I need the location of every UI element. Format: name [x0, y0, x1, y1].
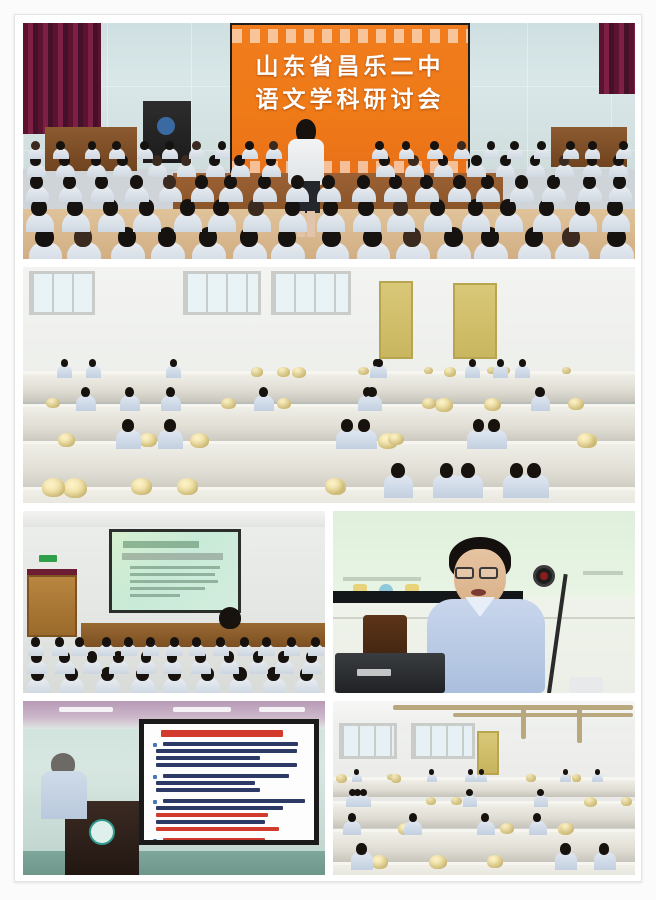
lab-trainee-torso	[343, 821, 361, 835]
lab-trainee-torso	[534, 795, 548, 807]
audience-head	[258, 175, 271, 189]
eyeglass-right-lens-icon	[479, 567, 498, 579]
lab-trainee-head	[341, 419, 353, 432]
lab2-window-2	[411, 723, 475, 759]
phantom-head-manikin	[63, 478, 87, 497]
audience-head	[102, 637, 111, 647]
speaker-closeup-scene	[333, 511, 635, 693]
ceiling-pipe-1	[393, 705, 633, 710]
lab-trainee-torso	[372, 365, 387, 377]
ceiling-pipe-drop-2	[577, 709, 582, 743]
lab-trainee-torso	[433, 475, 462, 498]
lab-trainee-head	[391, 463, 405, 478]
lab-trainee-torso	[531, 395, 551, 411]
lab-trainee-head	[429, 769, 434, 775]
lab-trainee-head	[356, 843, 367, 855]
photo-collage: 山东省昌乐二中 语文学科研讨会	[23, 23, 635, 875]
photo-speaker-at-microphone	[333, 511, 635, 693]
projected-text-line-1	[343, 577, 421, 581]
ceiling-lamp-2	[173, 707, 231, 712]
phantom-head-manikin	[568, 398, 584, 411]
photo-collage-card: 山东省昌乐二中 语文学科研讨会	[14, 14, 642, 882]
lab-window-1	[29, 271, 95, 315]
presentation-slide	[139, 719, 319, 845]
lab-trainee-head	[519, 359, 526, 367]
lab-trainee-head	[122, 419, 134, 432]
lab-trainee-torso	[555, 852, 577, 870]
phantom-head-manikin	[58, 433, 76, 447]
phantom-head-manikin	[484, 398, 501, 412]
slide-text-line-4	[130, 587, 206, 590]
audience-head	[311, 637, 320, 647]
slide-text-line	[156, 781, 255, 785]
phantom-head-manikin	[572, 774, 581, 781]
banner-text: 山东省昌乐二中 语文学科研讨会	[232, 51, 468, 117]
lab-trainee-head	[358, 419, 370, 432]
stage-curtain-left	[23, 23, 101, 134]
photo-podium-speaker-slide	[23, 701, 325, 875]
lab-trainee-torso	[404, 821, 422, 835]
school-emblem-icon	[89, 819, 115, 845]
lab-trainee-head	[61, 359, 68, 367]
photo-lab-classroom-second-view	[333, 701, 635, 875]
phantom-head-manikin	[190, 433, 209, 448]
lab-trainee-torso	[352, 774, 363, 783]
lab-trainee-torso	[594, 852, 616, 870]
lab-trainee-head	[560, 843, 571, 855]
audience-head	[195, 175, 208, 189]
lab-trainee-head	[535, 387, 544, 397]
phantom-head-manikin	[562, 367, 571, 374]
lecture-hall-scene	[23, 511, 325, 693]
lab-trainee-torso	[351, 795, 365, 807]
lab-trainee-torso	[352, 430, 377, 450]
audience-head	[322, 175, 335, 189]
banner-line-2: 语文学科研讨会	[232, 84, 468, 117]
phantom-head-manikin	[487, 855, 502, 867]
audience-head	[55, 637, 64, 647]
lab-trainee-torso	[351, 852, 373, 870]
phantom-head-manikin	[435, 398, 453, 412]
audience-head	[357, 175, 370, 189]
lab-trainee-torso	[254, 395, 274, 411]
lab-trainee-torso	[463, 795, 477, 807]
lab-door-yellow	[453, 283, 497, 359]
lab-trainee-head	[469, 359, 476, 367]
lab-trainee-torso	[467, 430, 492, 450]
lab-door-glass	[379, 281, 413, 359]
slide-text-line	[156, 813, 268, 817]
lab-trainee-torso	[476, 774, 487, 783]
phantom-head-manikin	[424, 367, 433, 374]
seated-presenter	[219, 607, 241, 629]
audience-head	[375, 141, 384, 150]
lab-trainee-torso	[592, 774, 603, 783]
slide-text-line	[156, 827, 279, 831]
lab-trainee-torso	[161, 395, 181, 411]
lab-trainee-torso	[86, 365, 101, 377]
lab-trainee-head	[259, 387, 268, 397]
ceiling-lamp-1	[59, 707, 113, 712]
lab-trainee-torso	[158, 430, 183, 450]
page-background: 山东省昌乐二中 语文学科研讨会	[0, 0, 656, 900]
phantom-head-manikin	[388, 433, 404, 445]
audience-head	[30, 175, 43, 189]
slide-text-line-2	[130, 573, 216, 576]
phantom-head-manikin	[422, 398, 436, 410]
audience-head	[31, 637, 40, 647]
audience-head	[588, 141, 597, 150]
slide-heading	[161, 730, 283, 737]
lab-trainee-head	[89, 359, 96, 367]
lab-trainee-torso	[465, 774, 476, 783]
audience-head	[481, 175, 494, 189]
microphone-icon	[533, 565, 555, 587]
slide-bullet-icon	[153, 800, 157, 804]
audience-head	[547, 175, 560, 189]
audience-head	[566, 141, 575, 150]
senior-speaker-shirt	[41, 771, 87, 819]
lab-classroom-second-scene	[333, 701, 635, 875]
lab-trainee-head	[527, 463, 541, 478]
audience-head	[510, 141, 519, 150]
slide-bullet-icon	[153, 775, 157, 779]
phantom-head-manikin	[277, 398, 291, 409]
slide-text-line	[163, 838, 265, 842]
desk-monitor	[335, 653, 445, 693]
photo-lecture-hall-green-screen	[23, 511, 325, 693]
audience-head	[619, 141, 628, 150]
lab-trainee-torso	[166, 365, 181, 377]
ceiling-pipe-drop-1	[521, 709, 526, 739]
lab-trainee-head	[166, 387, 175, 397]
phantom-head-manikin	[577, 433, 596, 448]
phantom-head-manikin	[325, 478, 345, 494]
slide-text-line-3	[130, 580, 218, 583]
lab-trainee-torso	[493, 365, 508, 377]
audience-head	[613, 175, 626, 189]
lab-trainee-head	[595, 769, 600, 775]
phantom-head-manikin	[358, 367, 368, 375]
audience-head	[63, 175, 76, 189]
audience-head	[291, 175, 304, 189]
exit-sign	[39, 555, 57, 562]
phantom-head-manikin	[371, 855, 388, 869]
lecture-hall-door	[27, 575, 77, 637]
lab-trainee-head	[348, 813, 357, 822]
audience-head	[216, 637, 225, 647]
audience-head	[75, 637, 84, 647]
auditorium-audience	[23, 141, 635, 259]
audience-head	[240, 637, 249, 647]
projection-screen	[109, 529, 241, 613]
audience-head	[515, 175, 528, 189]
lecture-hall-ceiling	[23, 511, 325, 527]
phantom-head-manikin	[429, 855, 447, 869]
lab-trainee-torso	[560, 774, 571, 783]
phantom-head-manikin	[42, 478, 65, 496]
projected-text-line-2	[583, 571, 623, 575]
audience-head	[471, 155, 482, 166]
lab-trainee-torso	[427, 774, 438, 783]
lab-trainee-torso	[529, 821, 547, 835]
audience-head	[269, 141, 278, 150]
slide-bullet-icon	[153, 839, 157, 843]
lab-trainee-head	[367, 387, 376, 397]
slide-text-line	[156, 756, 260, 760]
audience-head	[192, 141, 201, 150]
ceiling-pipe-2	[453, 713, 633, 717]
audience-head	[192, 637, 201, 647]
phantom-head-manikin	[526, 774, 536, 782]
lab-trainee-head	[473, 419, 485, 432]
photo-lab-classroom-wide	[23, 267, 635, 503]
slide-bullet-icon	[153, 743, 157, 747]
phantom-head-manikin	[336, 774, 347, 783]
lecture-hall-audience	[23, 637, 325, 693]
phantom-head-manikin	[584, 797, 597, 807]
audience-head	[170, 637, 179, 647]
phantom-head-manikin	[500, 823, 514, 834]
audience-head	[146, 637, 155, 647]
audience-head	[224, 175, 237, 189]
photo-auditorium-opening: 山东省昌乐二中 语文学科研讨会	[23, 23, 635, 259]
banner-top-decoration	[232, 29, 468, 43]
phantom-head-manikin	[621, 797, 632, 806]
lab-window-3	[271, 271, 351, 315]
audience-head	[262, 637, 271, 647]
audience-head	[130, 175, 143, 189]
audience-head	[287, 637, 296, 647]
eyeglass-left-lens-icon	[455, 567, 474, 579]
audience-head	[165, 141, 174, 150]
phantom-head-manikin	[177, 478, 198, 495]
audience-head	[420, 175, 433, 189]
phantom-head-manikin	[139, 433, 156, 447]
lab-trainee-head	[599, 843, 610, 855]
lab-trainee-head	[468, 769, 473, 775]
phantom-head-manikin	[221, 398, 235, 409]
slide-text-line	[163, 774, 290, 778]
auditorium-scene: 山东省昌乐二中 语文学科研讨会	[23, 23, 635, 259]
lab-trainee-torso	[515, 365, 530, 377]
lab-trainee-head	[81, 387, 90, 397]
phantom-head-manikin	[251, 367, 264, 377]
lab-trainee-head	[563, 769, 568, 775]
lab-trainee-torso	[465, 365, 480, 377]
speaker-mouth	[471, 589, 486, 596]
slide-text-line-1	[130, 566, 221, 569]
ceiling-lamp-3	[259, 707, 305, 712]
lab-classroom-scene	[23, 267, 635, 503]
lab-trainee-head	[170, 359, 177, 367]
lab-trainee-head	[497, 359, 504, 367]
audience-head	[95, 175, 108, 189]
banner-line-1: 山东省昌乐二中	[232, 51, 468, 84]
lab-trainee-head	[375, 359, 382, 367]
phantom-head-manikin	[426, 797, 436, 805]
lab-trainee-torso	[57, 365, 72, 377]
audience-head	[583, 175, 596, 189]
mobile-phone	[569, 677, 603, 693]
phantom-head-manikin	[46, 398, 60, 409]
lab-trainee-head	[354, 769, 359, 775]
slide-text-line	[156, 788, 260, 792]
slide-text-line-5	[130, 594, 180, 597]
lab-trainee-torso	[384, 475, 413, 498]
phantom-head-manikin	[277, 367, 290, 377]
slide-text-line	[156, 749, 297, 753]
audience-head	[453, 175, 466, 189]
phantom-head-manikin	[444, 367, 456, 377]
lab-trainee-torso	[116, 430, 141, 450]
slide-title-line	[123, 541, 199, 548]
lab2-window-1	[339, 723, 397, 759]
slide-text-line	[156, 763, 297, 767]
audience-head	[124, 637, 133, 647]
slide-text-line	[156, 806, 283, 810]
lab-trainee-torso	[76, 395, 96, 411]
slide-divider-bar	[122, 553, 223, 560]
lab-trainee-torso	[477, 821, 495, 835]
phantom-head-manikin	[560, 823, 574, 834]
senior-speaker	[41, 753, 87, 815]
stage-curtain-right	[599, 23, 635, 94]
lab-trainee-torso	[520, 475, 549, 498]
lab-trainee-head	[510, 463, 524, 478]
lab-trainee-torso	[120, 395, 140, 411]
slide-text-line	[156, 820, 265, 824]
phantom-head-manikin	[391, 774, 401, 782]
lab-trainee-head	[479, 769, 484, 775]
lab-trainee-head	[461, 463, 475, 478]
lab-trainee-head	[440, 463, 454, 478]
audience-head	[389, 175, 402, 189]
podium-speaker-scene	[23, 701, 325, 875]
lab-trainee-head	[164, 419, 176, 432]
audience-head	[87, 651, 98, 663]
lab-trainee-torso	[363, 395, 383, 411]
phantom-head-manikin	[131, 478, 152, 495]
lab-trainee-head	[488, 419, 500, 432]
slide-text-line	[163, 799, 305, 803]
lab-window-2	[183, 271, 261, 315]
slide-text-line	[163, 742, 298, 746]
phantom-head-manikin	[451, 797, 461, 805]
audience-head	[112, 141, 121, 150]
